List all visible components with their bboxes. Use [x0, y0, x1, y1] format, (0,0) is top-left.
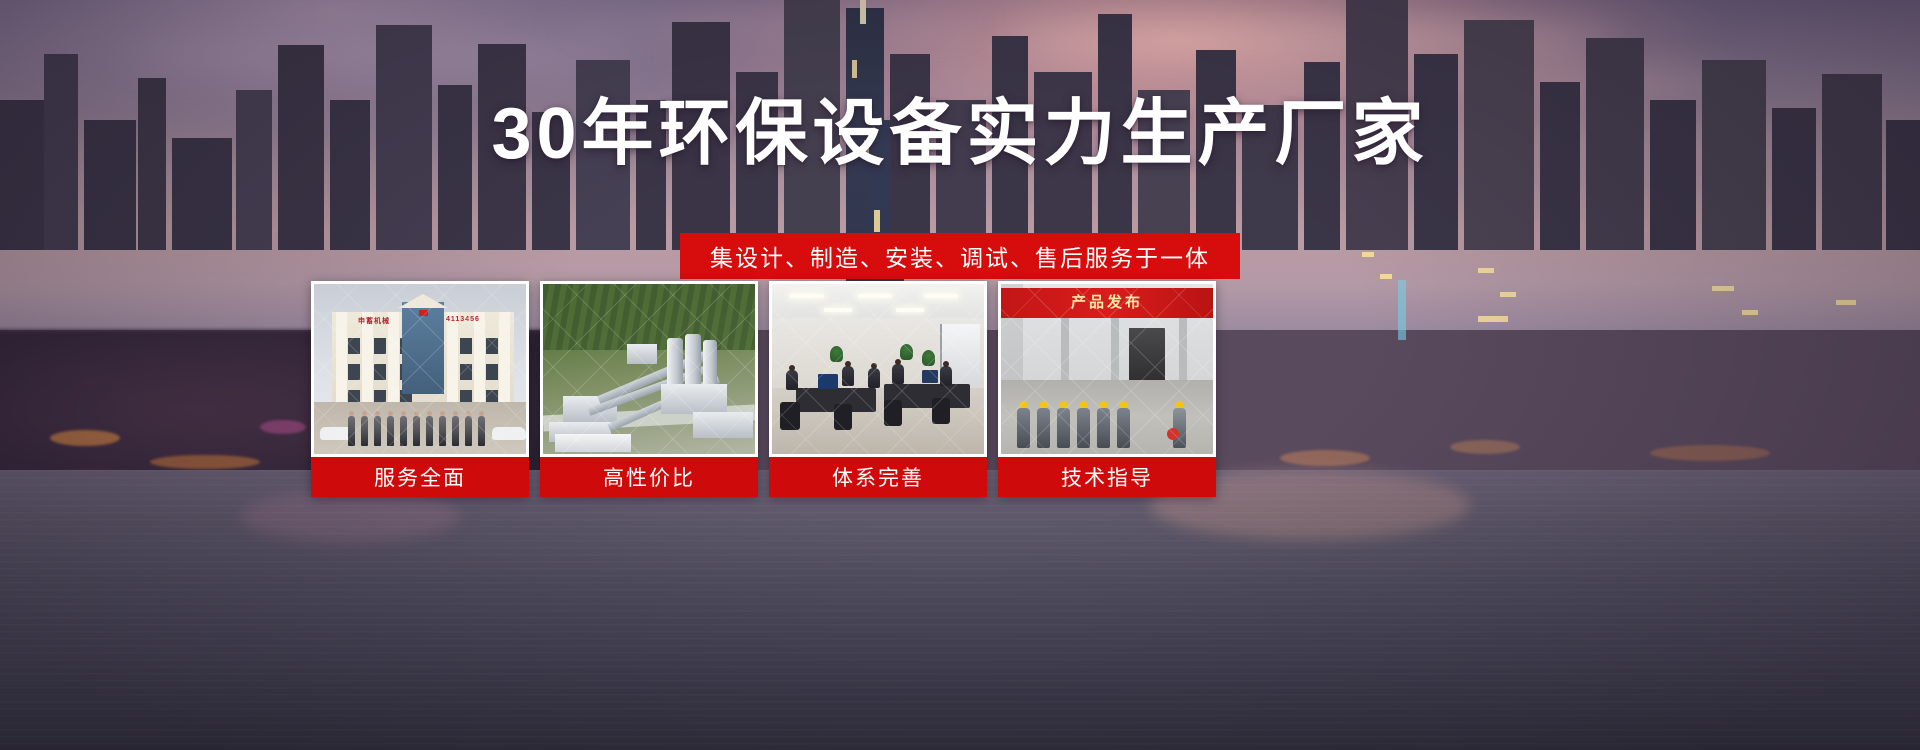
thumb-person	[892, 364, 904, 384]
water-glow	[240, 490, 460, 542]
window-light	[1478, 268, 1494, 273]
thumb-worker	[1077, 408, 1090, 448]
thumb-wall-post	[1111, 318, 1119, 388]
thumb-ceiling-lamp	[896, 308, 924, 312]
tree-light	[1450, 440, 1520, 454]
thumb-person	[868, 368, 880, 388]
thumb-red-object	[1167, 428, 1179, 440]
card-thumbnail-office-building: 申蓄机械 4113456	[314, 284, 526, 454]
thumb-chair	[884, 400, 902, 426]
window-light	[852, 60, 857, 78]
hero-banner: 30年环保设备实力生产厂家 集设计、制造、安装、调试、售后服务于一体	[0, 0, 1920, 750]
window-light	[1362, 252, 1374, 257]
thumb-silo	[703, 340, 717, 390]
thumb-worker	[1057, 408, 1070, 448]
thumb-banner-text: 产品发布	[1071, 291, 1143, 312]
window-light	[1742, 310, 1758, 315]
thumb-treeline	[543, 284, 755, 350]
feature-card[interactable]: 申蓄机械 4113456 服务全面	[311, 281, 529, 497]
window-light	[1380, 274, 1392, 279]
thumb-chair	[780, 402, 800, 430]
window-light-blue	[1398, 280, 1406, 340]
thumb-plant	[830, 346, 843, 362]
card-label: 体系完善	[769, 457, 987, 497]
thumb-person	[940, 366, 952, 386]
thumb-silo	[667, 338, 683, 390]
thumb-company-sign: 申蓄机械	[358, 316, 390, 326]
thumb-warehouse	[555, 434, 631, 452]
tree-light	[150, 455, 260, 469]
thumb-flag	[419, 310, 428, 316]
thumb-plant	[922, 350, 935, 366]
thumb-factory-block	[627, 344, 657, 364]
window-light	[874, 210, 880, 232]
feature-card[interactable]: 体系完善	[769, 281, 987, 497]
window-light	[1500, 292, 1516, 297]
thumb-chair	[834, 404, 852, 430]
thumb-ceiling-lamp	[858, 294, 892, 298]
thumb-ceiling-lamp	[924, 294, 958, 298]
thumb-factory-block	[693, 412, 753, 438]
window-light	[1478, 316, 1508, 322]
subtitle-ribbon: 集设计、制造、安装、调试、售后服务于一体	[680, 233, 1240, 279]
thumb-person	[842, 366, 854, 386]
window-light	[1712, 286, 1734, 291]
thumb-car	[492, 427, 526, 440]
feature-card[interactable]: 高性价比	[540, 281, 758, 497]
thumb-wall-post	[1061, 318, 1069, 388]
thumb-chair	[932, 398, 950, 424]
thumb-wall-post	[1179, 318, 1187, 388]
card-thumbnail-office-interior	[772, 284, 984, 454]
tree-light	[50, 430, 120, 446]
card-label: 技术指导	[998, 457, 1216, 497]
thumb-worker	[1097, 408, 1110, 448]
thumb-monitor	[922, 370, 938, 383]
card-thumbnail-workshop: 产品发布	[1001, 284, 1213, 454]
thumb-plant	[900, 344, 913, 360]
thumb-ceiling	[772, 284, 984, 318]
thumb-phone-number: 4113456	[446, 316, 480, 323]
thumb-monitor	[818, 374, 838, 389]
card-thumbnail-aerial-plant	[543, 284, 755, 454]
page-title: 30年环保设备实力生产厂家	[0, 98, 1920, 170]
thumb-silo	[685, 334, 701, 390]
thumb-ceiling-lamp	[790, 294, 824, 298]
thumb-worker	[1017, 408, 1030, 448]
thumb-factory-block	[661, 384, 727, 414]
card-label: 服务全面	[311, 457, 529, 497]
thumb-person	[786, 370, 798, 390]
tree-light	[1280, 450, 1370, 466]
feature-card-list: 申蓄机械 4113456 服务全面	[311, 281, 1261, 497]
thumb-red-banner: 产品发布	[1001, 288, 1213, 318]
tree-light	[1650, 445, 1770, 461]
thumb-worker	[1037, 408, 1050, 448]
card-label: 高性价比	[540, 457, 758, 497]
feature-card[interactable]: 产品发布 技术指导	[998, 281, 1216, 497]
thumb-worker	[1117, 408, 1130, 448]
window-light	[1836, 300, 1856, 305]
thumb-ceiling-lamp	[824, 308, 852, 312]
tree-light	[260, 420, 306, 434]
